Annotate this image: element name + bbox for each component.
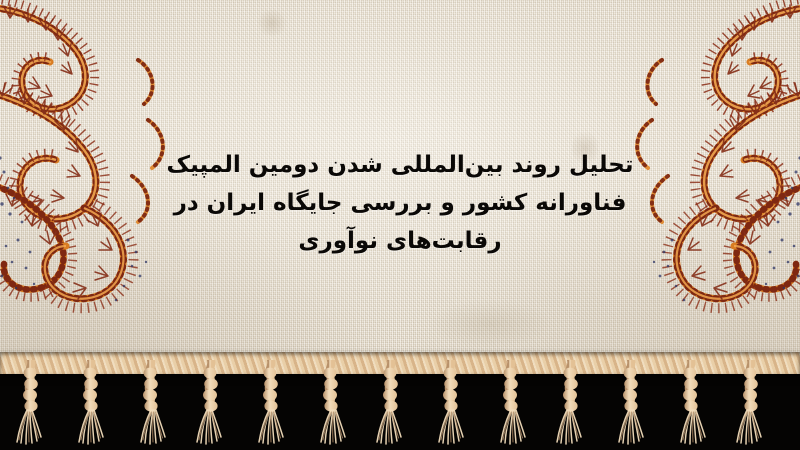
title-line-1: تحلیل روند بین‌المللی شدن دومین المپیک: [160, 146, 640, 184]
knotted-tassel-fringe: [0, 360, 800, 450]
tassel: [14, 360, 48, 448]
slide-title: تحلیل روند بین‌المللی شدن دومین المپیک ف…: [160, 146, 640, 260]
tassel: [374, 360, 408, 448]
title-line-2: فناورانه کشور و بررسی جایگاه ایران در: [160, 184, 640, 222]
tassel: [494, 360, 528, 448]
title-line-3: رقابت‌های نوآوری: [160, 222, 640, 260]
tassel: [674, 360, 708, 448]
tassel: [734, 360, 768, 448]
slide-canvas: تحلیل روند بین‌المللی شدن دومین المپیک ف…: [0, 0, 800, 450]
tassel: [194, 360, 228, 448]
tassel: [434, 360, 468, 448]
tassel: [614, 360, 648, 448]
tassel: [134, 360, 168, 448]
tassel: [554, 360, 588, 448]
tassel: [74, 360, 108, 448]
tassel: [314, 360, 348, 448]
tassel: [254, 360, 288, 448]
